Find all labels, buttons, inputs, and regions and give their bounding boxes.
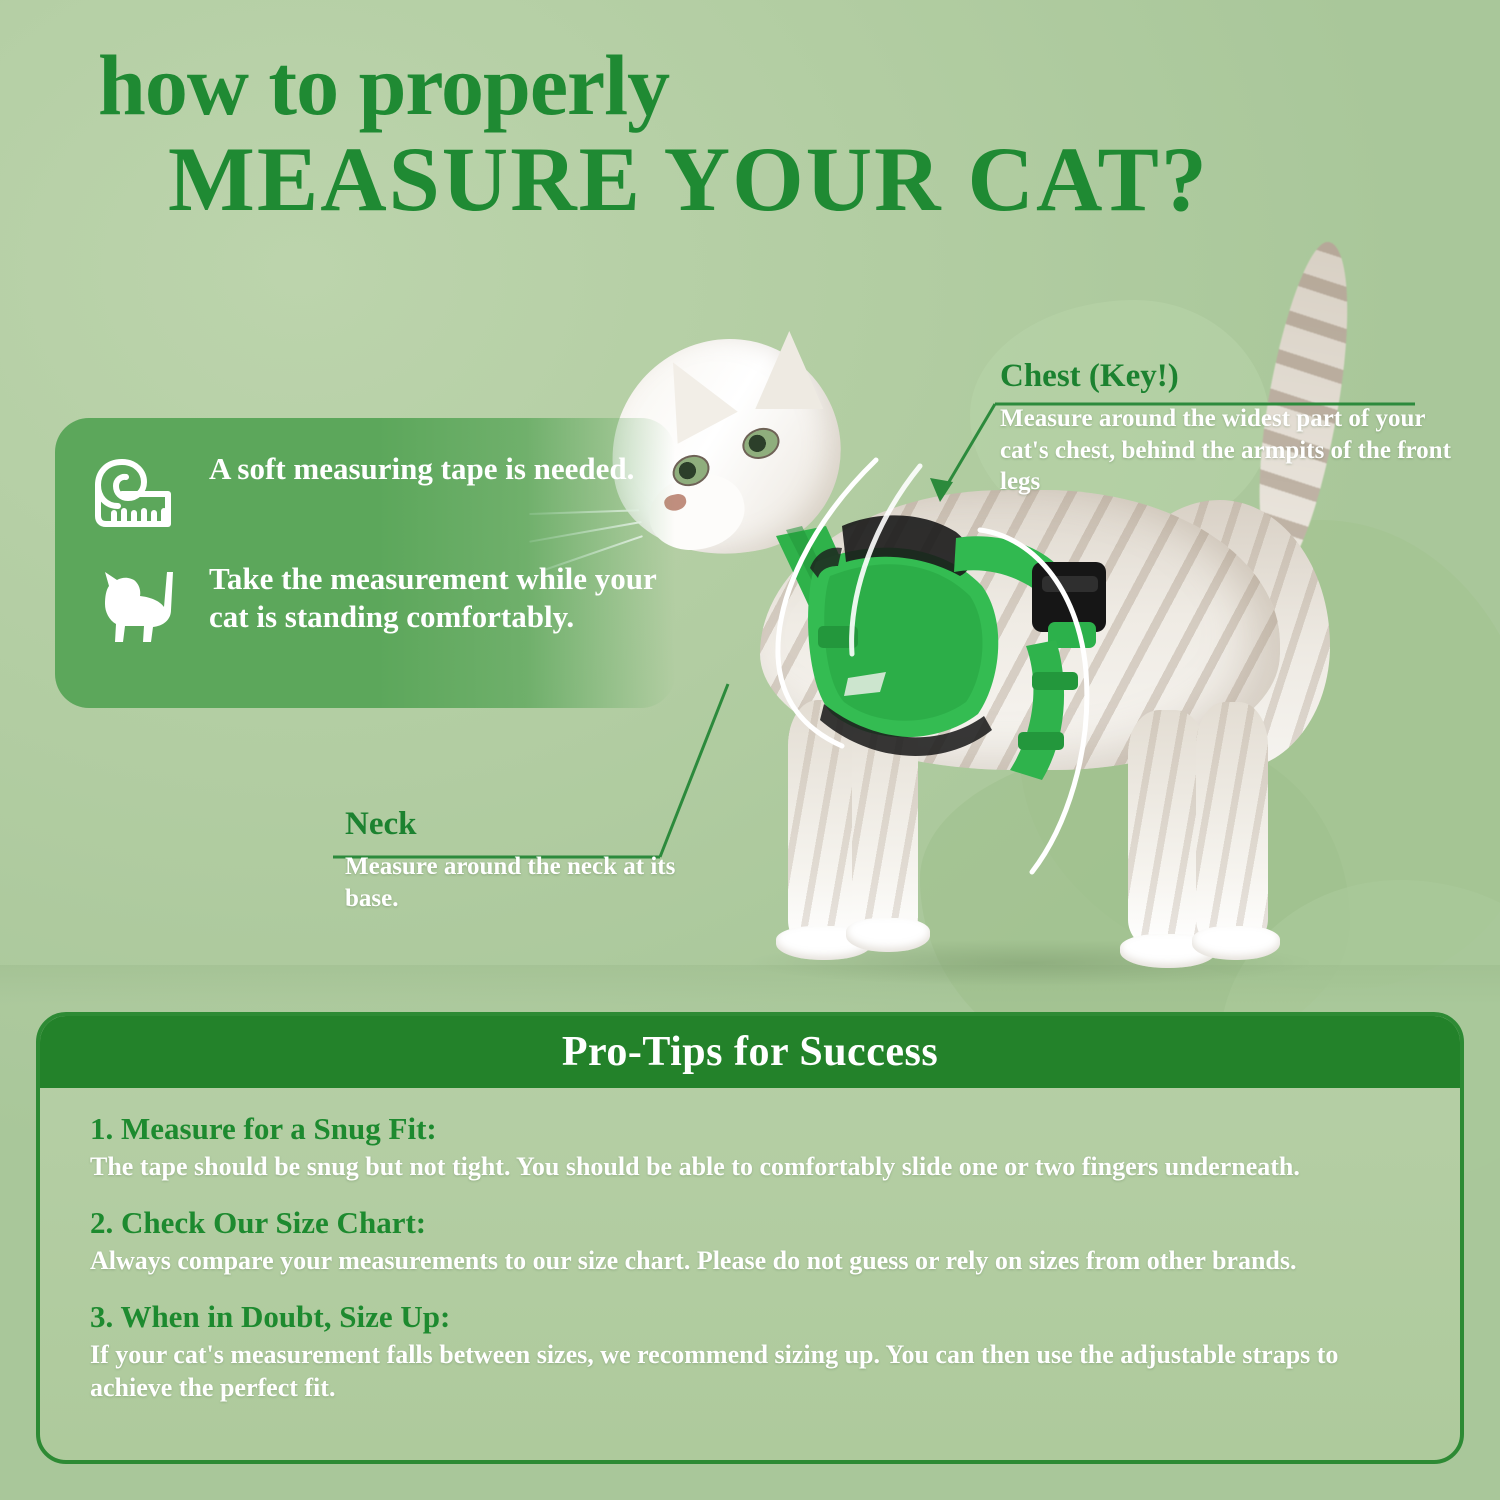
cat-paw: [846, 918, 930, 952]
annotation-body: Measure around the widest part of your c…: [1000, 403, 1460, 498]
measuring-tape-icon: [87, 450, 183, 530]
requirement-text: Take the measurement while your cat is s…: [209, 560, 675, 636]
pro-tip-heading: 1. Measure for a Snug Fit:: [90, 1110, 1410, 1147]
requirement-item: Take the measurement while your cat is s…: [87, 560, 675, 646]
pro-tip: 2. Check Our Size Chart: Always compare …: [90, 1204, 1410, 1278]
annotation-chest: Chest (Key!) Measure around the widest p…: [1000, 358, 1460, 498]
page-title: how to properly MEASURE YOUR CAT?: [0, 44, 1500, 225]
cat-back-right-leg: [1196, 702, 1268, 948]
pro-tip-heading: 3. When in Doubt, Size Up:: [90, 1298, 1410, 1335]
infographic-page: how to properly MEASURE YOUR CAT?: [0, 0, 1500, 1500]
pro-tip: 3. When in Doubt, Size Up: If your cat's…: [90, 1298, 1410, 1405]
annotation-body: Measure around the neck at its base.: [345, 851, 705, 914]
pro-tips-header-text: Pro-Tips for Success: [562, 1028, 938, 1076]
cat-ear-right: [755, 331, 823, 409]
annotation-title: Neck: [345, 806, 705, 842]
pro-tip-heading: 2. Check Our Size Chart:: [90, 1204, 1410, 1241]
annotation-neck: Neck Measure around the neck at its base…: [345, 806, 705, 914]
pro-tip: 1. Measure for a Snug Fit: The tape shou…: [90, 1110, 1410, 1184]
pro-tips-header: Pro-Tips for Success: [40, 1016, 1460, 1088]
pro-tip-text: The tape should be snug but not tight. Y…: [90, 1151, 1410, 1184]
annotation-title: Chest (Key!): [1000, 358, 1460, 394]
title-line-1: how to properly: [0, 44, 1500, 127]
cat-front-left-leg: [788, 700, 862, 950]
pro-tips-panel: Pro-Tips for Success 1. Measure for a Sn…: [36, 1012, 1464, 1464]
standing-cat-icon: [87, 560, 183, 646]
pro-tip-text: Always compare your measurements to our …: [90, 1245, 1410, 1278]
pro-tip-text: If your cat's measurement falls between …: [90, 1339, 1410, 1405]
pro-tips-body: 1. Measure for a Snug Fit: The tape shou…: [40, 1088, 1460, 1405]
cat-paw: [1192, 926, 1280, 960]
requirement-text: A soft measuring tape is needed.: [209, 450, 634, 488]
cat-eye: [738, 423, 784, 464]
cat-front-right-leg: [852, 692, 918, 950]
title-line-2: MEASURE YOUR CAT?: [0, 133, 1500, 225]
requirement-item: A soft measuring tape is needed.: [87, 450, 634, 530]
requirements-card: A soft measuring tape is needed. Take th…: [55, 418, 675, 708]
cat-back-left-leg: [1128, 710, 1206, 948]
